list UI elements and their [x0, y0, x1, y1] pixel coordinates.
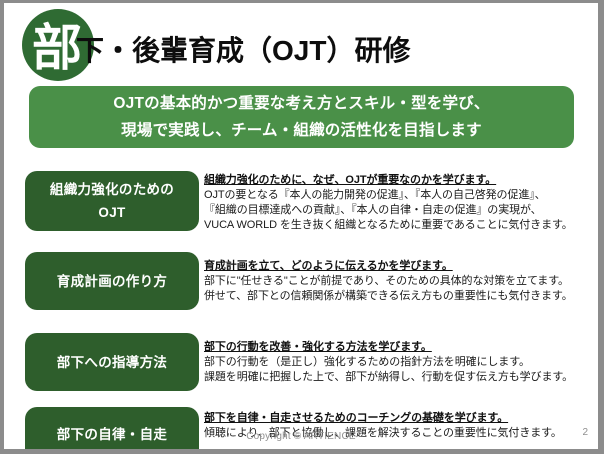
row-label-line-1: 組織力強化のための — [50, 178, 174, 201]
summary-banner-line-1: OJTの基本的かつ重要な考え方とスキル・型を学び、 — [113, 90, 489, 117]
row-description-line: 課題を明確に把握した上で、部下が納得し、行動を促す伝え方も学びます。 — [204, 370, 594, 385]
summary-banner-line-2: 現場で実践し、チーム・組織の活性化を目指します — [121, 117, 482, 144]
row-description-heading: 部下の行動を改善・強化する方法を学びます。 — [204, 340, 594, 355]
footer-page-number: 2 — [582, 427, 588, 438]
row-label-line-2: OJT — [98, 201, 125, 224]
row-description-line: OJTの要となる『本人の能力開発の促進』、『本人の自己啓発の促進』、 — [204, 188, 594, 203]
slide-title-area: 部 下・後輩育成（OJT）研修 — [4, 3, 598, 85]
row-description-heading: 部下を自律・自走させるためのコーチングの基礎を学びます。 — [204, 411, 594, 426]
row-description-line: 『組織の目標達成への貢献』、『本人の自律・自走の促進』の実現が、 — [204, 203, 594, 218]
row-description-line: VUCA WORLD を生き抜く組織となるために重要であることに気付きます。 — [204, 218, 594, 233]
row-label-box: 育成計画の作り方 — [25, 252, 199, 310]
row-description-line: 併せて、部下との信頼関係が構築できる伝え方もの重要性にも気付きます。 — [204, 289, 594, 304]
footer-copyright: Copyright © ARTIENCE — [4, 431, 598, 442]
row-label-line-1: 育成計画の作り方 — [57, 270, 167, 293]
row-description-line: 部下に"任せきる"ことが前提であり、そのための具体的な対策を立てます。 — [204, 274, 594, 289]
row-description: 組織力強化のために、なぜ、OJTが重要なのかを学びます。 OJTの要となる『本人… — [204, 173, 594, 233]
row-label-box: 組織力強化のための OJT — [25, 171, 199, 231]
row-label-line-1: 部下への指導方法 — [57, 351, 167, 374]
slide-canvas: 部 下・後輩育成（OJT）研修 OJTの基本的かつ重要な考え方とスキル・型を学び… — [4, 3, 598, 449]
row-label-box: 部下への指導方法 — [25, 333, 199, 391]
row-label-box: 部下の自律・自走 — [25, 407, 199, 449]
page-title: 下・後輩育成（OJT）研修 — [76, 29, 410, 69]
row-description: 部下の行動を改善・強化する方法を学びます。 部下の行動を（是正し）強化するための… — [204, 340, 594, 385]
row-description: 育成計画を立て、どのように伝えるかを学びます。 部下に"任せきる"ことが前提であ… — [204, 259, 594, 304]
summary-banner: OJTの基本的かつ重要な考え方とスキル・型を学び、 現場で実践し、チーム・組織の… — [29, 86, 574, 148]
row-description-line: 部下の行動を（是正し）強化するための指針方法を明確にします。 — [204, 355, 594, 370]
row-description-heading: 育成計画を立て、どのように伝えるかを学びます。 — [204, 259, 594, 274]
title-badge-character: 部 — [32, 19, 104, 81]
row-description-heading: 組織力強化のために、なぜ、OJTが重要なのかを学びます。 — [204, 173, 594, 188]
